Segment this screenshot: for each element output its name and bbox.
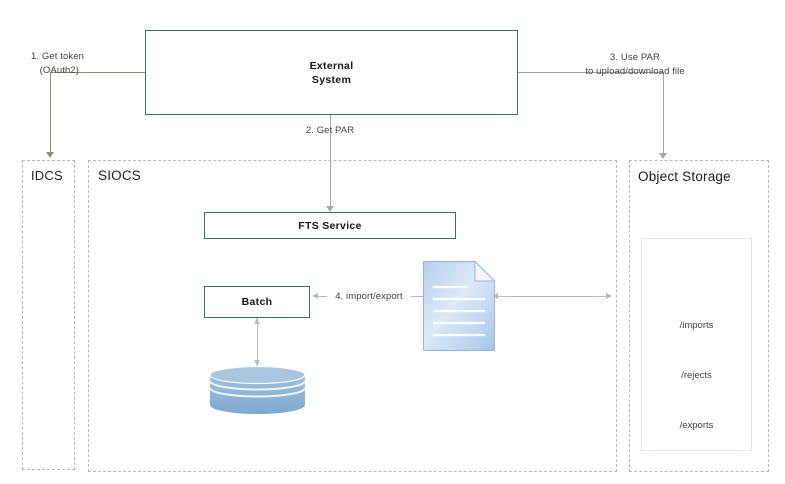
zone-object-storage-label: Object Storage [638, 169, 731, 184]
flow-step3-arrowhead [659, 153, 667, 159]
node-external-system-label: External System [146, 59, 517, 87]
diagram-canvas: IDCS SIOCS Object Storage /imports /reje… [0, 0, 785, 484]
flow-step1-segment-vertical [50, 72, 51, 152]
document-storage-arrowhead-left [492, 293, 498, 299]
flow-step1-arrowhead [46, 152, 54, 158]
object-storage-folder-panel[interactable]: /imports /rejects /exports [641, 238, 752, 451]
flow-step1-label-line1: 1. Get token [0, 50, 84, 63]
document-storage-arrowhead-right [606, 293, 612, 299]
node-batch[interactable]: Batch [204, 286, 310, 318]
flow-step4-arrowhead [312, 293, 318, 299]
flow-step2-label: 2. Get PAR [280, 124, 380, 137]
database-cylinder-icon[interactable] [209, 366, 306, 414]
zone-object-storage[interactable]: Object Storage /imports /rejects /export… [629, 160, 769, 472]
flow-step3-label-line2: to upload/download file [569, 65, 701, 78]
document-object-storage-connector [494, 296, 610, 297]
flow-step3-segment-vertical [663, 72, 664, 154]
zone-siocs-label: SIOCS [98, 168, 141, 183]
flow-step4-label: 4. import/export [327, 290, 411, 303]
zone-idcs-label: IDCS [31, 168, 63, 183]
folder-item-rejects[interactable]: /rejects [642, 370, 751, 381]
node-external-system[interactable]: External System [145, 30, 518, 115]
node-fts-service-label: FTS Service [205, 219, 455, 233]
batch-database-arrowhead-up [254, 318, 260, 324]
folder-item-exports[interactable]: /exports [642, 420, 751, 431]
node-batch-label: Batch [205, 295, 309, 309]
node-fts-service[interactable]: FTS Service [204, 212, 456, 239]
flow-step3-label-line1: 3. Use PAR [584, 51, 686, 64]
folder-item-imports[interactable]: /imports [642, 320, 751, 331]
zone-siocs[interactable]: SIOCS [88, 160, 617, 472]
flow-step1-label-line2: (OAuth2) [0, 64, 79, 77]
zone-idcs[interactable]: IDCS [22, 160, 75, 470]
file-document-icon[interactable] [423, 261, 495, 351]
batch-database-connector [257, 318, 258, 366]
